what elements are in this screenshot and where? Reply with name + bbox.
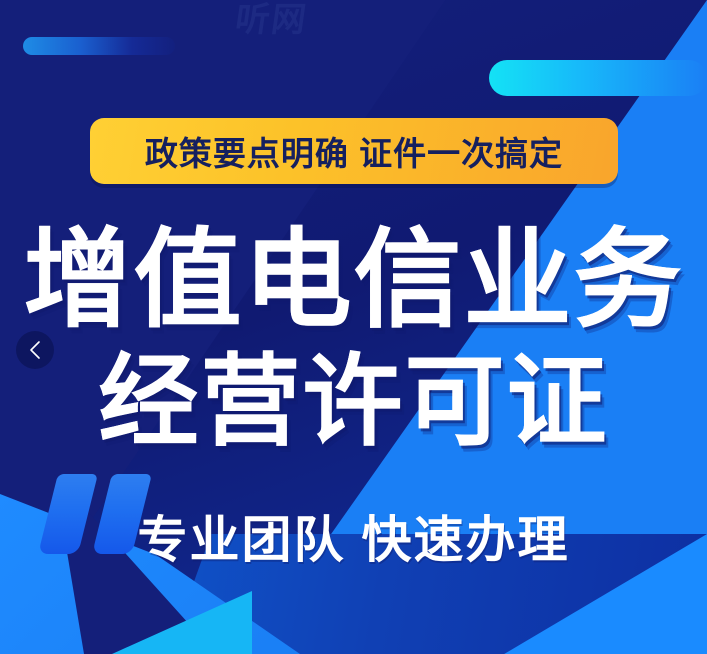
watermark-text: 听网 bbox=[233, 0, 312, 41]
carousel-prev-button[interactable] bbox=[16, 331, 54, 369]
headline-line-1: 增值电信业务 bbox=[0, 226, 707, 334]
ribbon-badge: 政策要点明确 证件一次搞定 bbox=[90, 118, 618, 184]
promo-banner: 听网 政策要点明确 证件一次搞定 增值电信业务 经营许可证 专业团队 快速办理 bbox=[0, 0, 707, 654]
decorative-pill-right bbox=[489, 60, 707, 96]
chevron-left-icon bbox=[28, 340, 42, 360]
ribbon-text: 政策要点明确 证件一次搞定 bbox=[145, 127, 563, 175]
headline-line-2: 经营许可证 bbox=[0, 352, 707, 452]
decorative-pill-left bbox=[23, 37, 175, 55]
subtitle-text: 专业团队 快速办理 bbox=[0, 500, 707, 572]
